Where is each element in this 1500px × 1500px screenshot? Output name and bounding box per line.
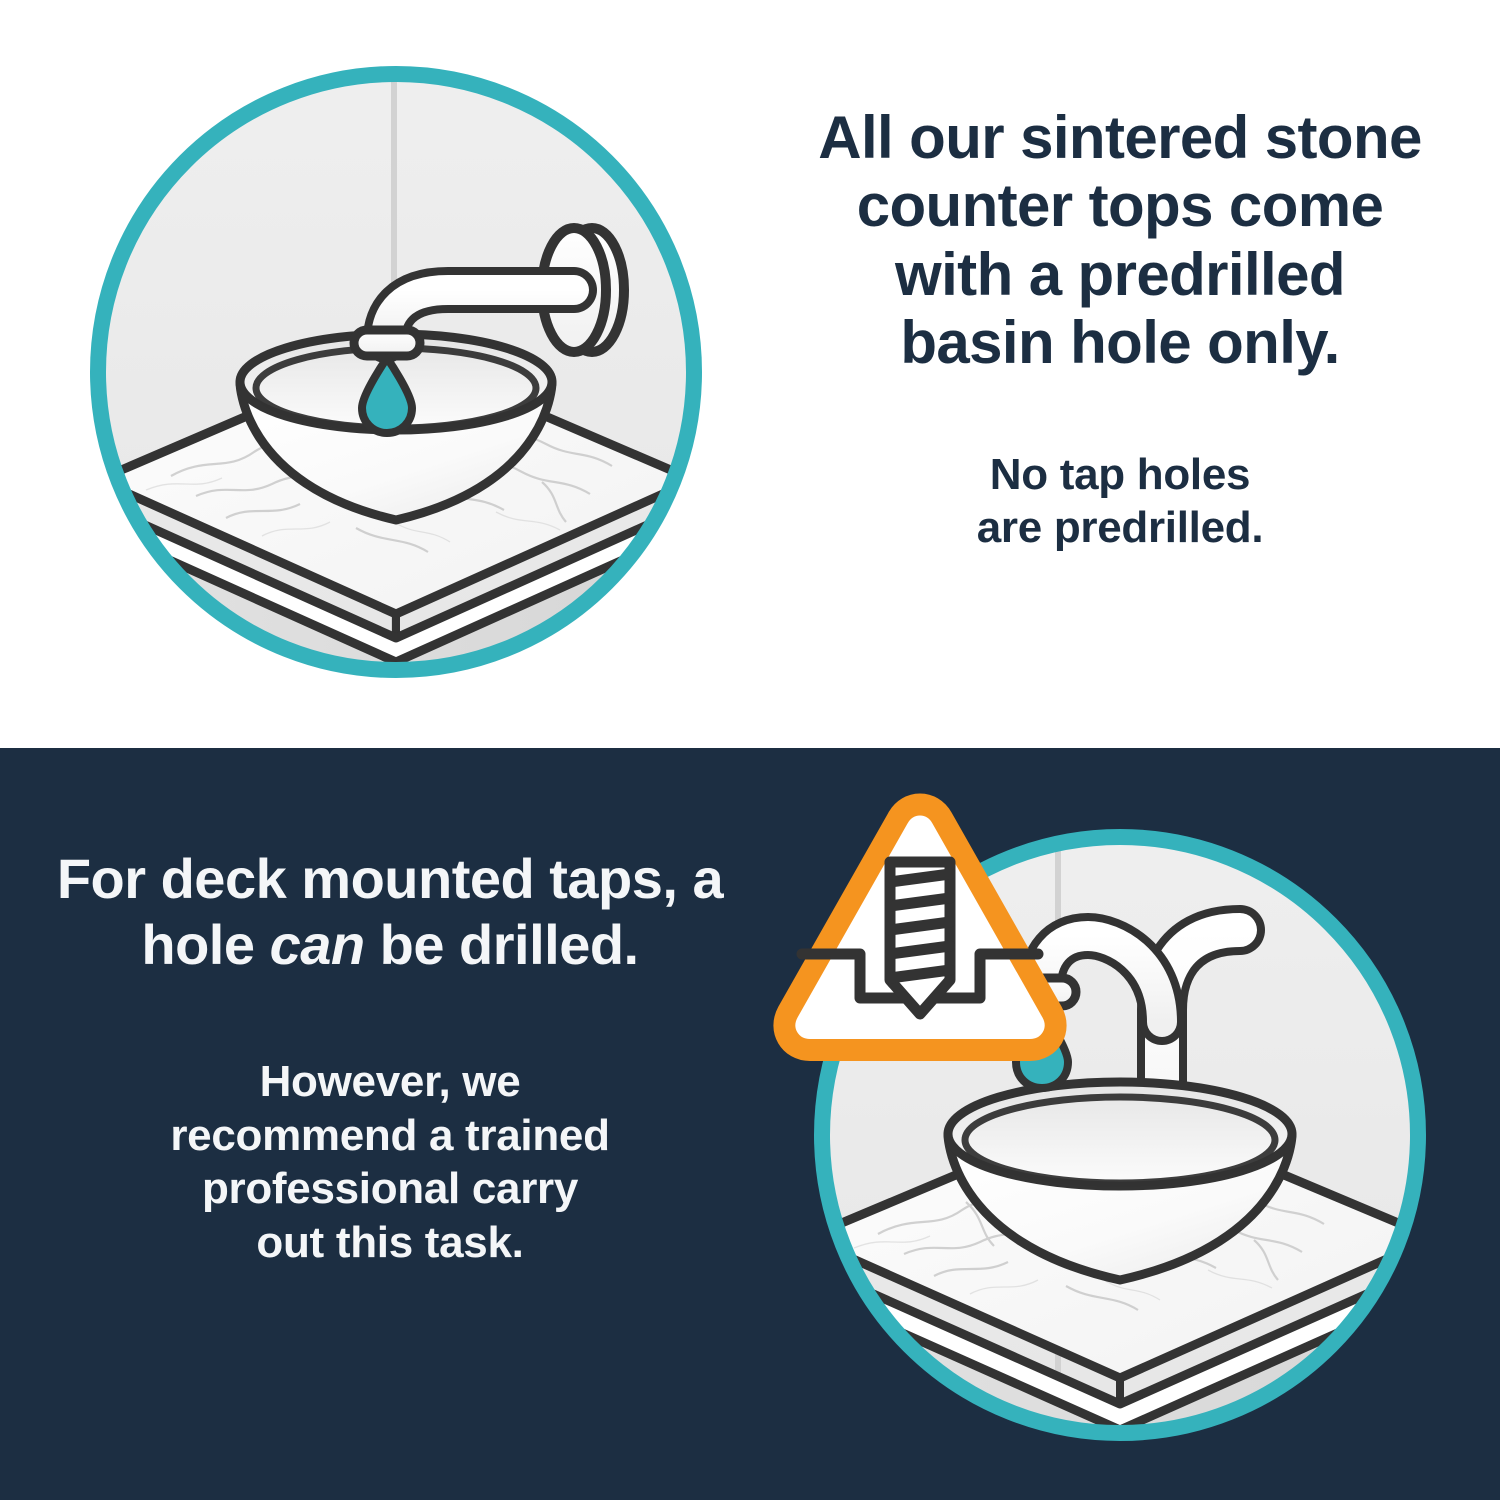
top-subtext: No tap holes are predrilled. <box>750 448 1490 555</box>
top-headline-line-2: counter tops come <box>750 172 1490 240</box>
warning-triangle <box>784 805 1055 1051</box>
bottom-subtext-line-3: professional carry <box>18 1162 762 1216</box>
deck-mounted-tap-basin-illustration <box>770 790 1430 1450</box>
top-subtext-line-2: are predrilled. <box>750 501 1490 555</box>
bottom-headline: For deck mounted taps, a hole can be dri… <box>18 846 762 977</box>
bottom-text-block: For deck mounted taps, a hole can be dri… <box>18 846 762 1270</box>
top-headline-line-1: All our sintered stone <box>750 104 1490 172</box>
bottom-headline-emphasis: can <box>270 913 365 976</box>
bottom-subtext-line-4: out this task. <box>18 1216 762 1270</box>
bottom-subtext-line-1: However, we <box>18 1055 762 1109</box>
wall-mounted-tap-basin-illustration <box>76 52 716 692</box>
bottom-subtext: However, we recommend a trained professi… <box>18 1055 762 1270</box>
top-text-block: All our sintered stone counter tops come… <box>750 104 1490 555</box>
top-headline: All our sintered stone counter tops come… <box>750 104 1490 378</box>
infographic-page: All our sintered stone counter tops come… <box>0 0 1500 1500</box>
spout-nozzle <box>354 330 420 356</box>
top-headline-line-4: basin hole only. <box>750 309 1490 377</box>
top-headline-line-3: with a predrilled <box>750 241 1490 309</box>
top-subtext-line-1: No tap holes <box>750 448 1490 502</box>
bottom-headline-post: be drilled. <box>365 913 639 976</box>
bottom-subtext-line-2: recommend a trained <box>18 1109 762 1163</box>
scene-group <box>76 52 716 712</box>
